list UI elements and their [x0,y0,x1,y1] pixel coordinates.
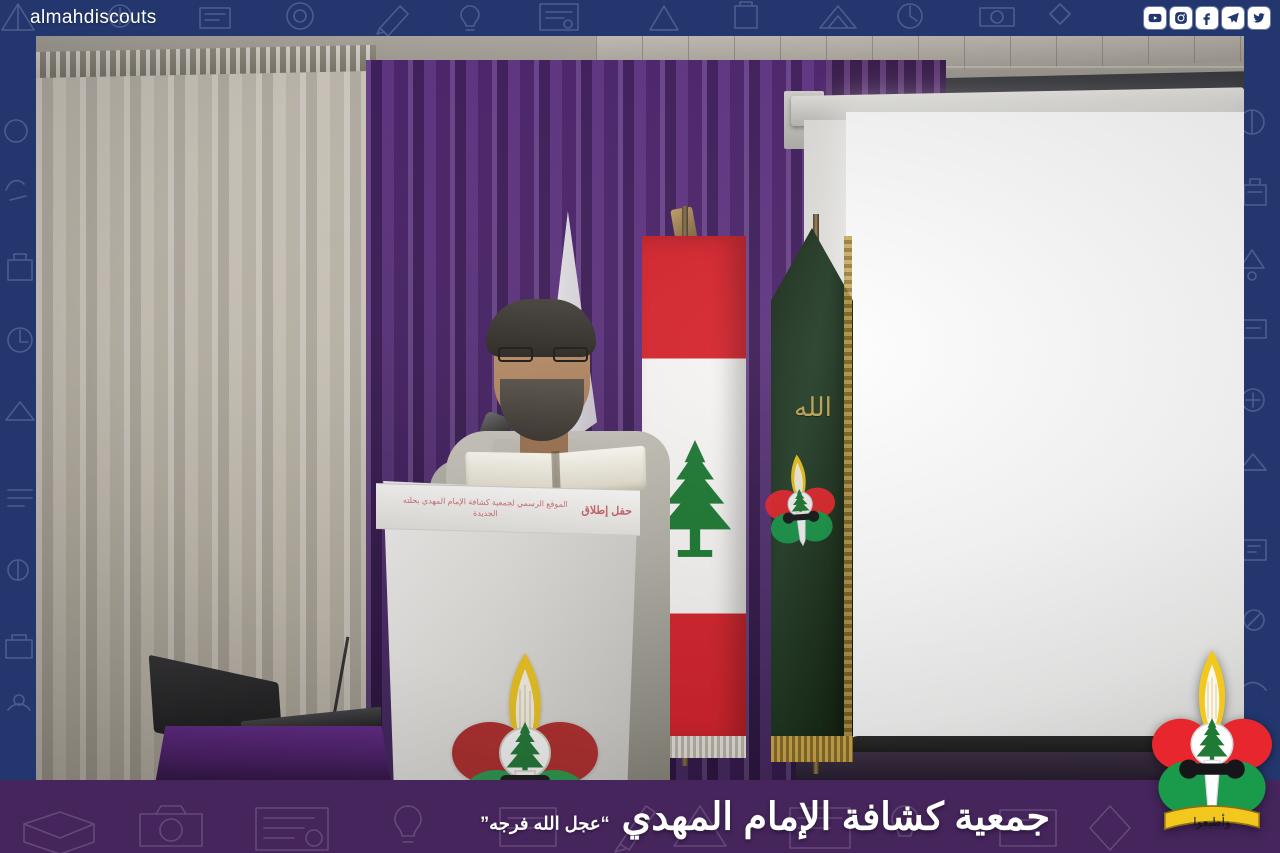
header-bar: almahdiscouts [0,0,1280,36]
svg-text:وأطيعوا: وأطيعوا [1193,814,1231,829]
instagram-icon[interactable] [1170,7,1192,29]
footer-title-group: جمعية كشافة الإمام المهدي “عجل الله فرجه… [480,794,1050,839]
podium-banner: حفل إطلاق الموقع الرسمي لجمعية كشافة الإ… [376,483,640,536]
podium-scout-emblem: وأطيعوا [450,649,600,780]
scout-flag-calligraphy: الله [778,384,848,430]
photo-frame-card: almahdiscouts [0,0,1280,853]
brand-handle: almahdiscouts [30,7,157,29]
event-photo: الله [36,36,1244,780]
podium-banner-subtext: الموقع الرسمي لجمعية كشافة الإمام المهدي… [395,496,575,522]
scout-flag-fringe [771,736,853,762]
scout-flag-gold-edge [844,236,852,736]
speaker-glasses [498,347,588,363]
social-links[interactable] [1144,7,1270,29]
youtube-icon[interactable] [1144,7,1166,29]
twitter-icon[interactable] [1248,7,1270,29]
telegram-icon[interactable] [1222,7,1244,29]
podium-banner-headline: حفل إطلاق [581,505,632,520]
organization-title: جمعية كشافة الإمام المهدي [622,794,1050,839]
facebook-icon[interactable] [1196,7,1218,29]
scout-flag-emblem [758,445,841,558]
corner-scout-emblem: وأطيعوا [1152,636,1272,851]
footer-bar: جمعية كشافة الإمام المهدي “عجل الله فرجه… [0,780,1280,853]
draped-table [151,726,391,780]
organization-subtitle: “عجل الله فرجه” [480,813,609,834]
